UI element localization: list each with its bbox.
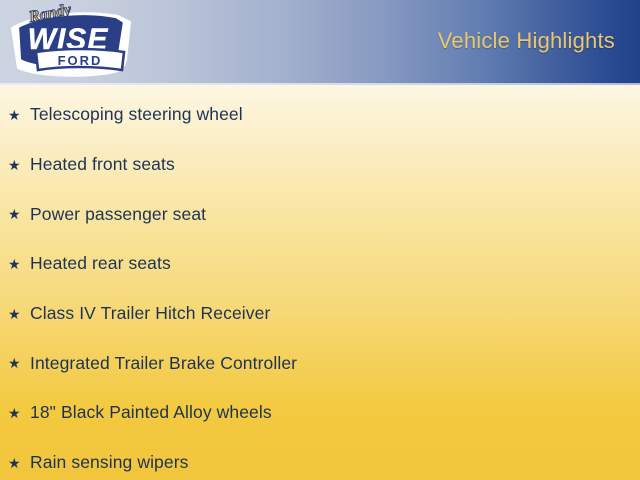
vehicle-highlights-list: ★ Telescoping steering wheel ★ Heated fr… (0, 90, 640, 480)
list-item[interactable]: ★ Heated front seats (0, 140, 640, 190)
list-item-label: Rain sensing wipers (30, 452, 189, 473)
list-item-label: Heated front seats (30, 154, 175, 175)
header-divider (0, 83, 640, 85)
list-item-label: 18" Black Painted Alloy wheels (30, 402, 272, 423)
star-bullet-icon: ★ (8, 108, 30, 122)
list-item-label: Integrated Trailer Brake Controller (30, 353, 297, 374)
list-item-label: Heated rear seats (30, 253, 171, 274)
star-bullet-icon: ★ (8, 158, 30, 172)
star-bullet-icon: ★ (8, 207, 30, 221)
star-bullet-icon: ★ (8, 406, 30, 420)
list-item[interactable]: ★ Heated rear seats (0, 239, 640, 289)
list-item[interactable]: ★ Integrated Trailer Brake Controller (0, 338, 640, 388)
list-item[interactable]: ★ Telescoping steering wheel (0, 90, 640, 140)
star-bullet-icon: ★ (8, 356, 30, 370)
list-item[interactable]: ★ Class IV Trailer Hitch Receiver (0, 289, 640, 339)
list-item-label: Telescoping steering wheel (30, 104, 243, 125)
vehicle-highlights-slide: WISE Randy FORD Vehicle Highlights ★ Tel… (0, 0, 640, 480)
list-item[interactable]: ★ Rain sensing wipers (0, 438, 640, 480)
dealer-logo[interactable]: WISE Randy FORD (6, 2, 138, 82)
list-item-label: Class IV Trailer Hitch Receiver (30, 303, 270, 324)
logo-ford-text: FORD (58, 53, 103, 68)
list-item[interactable]: ★ Power passenger seat (0, 189, 640, 239)
list-item-label: Power passenger seat (30, 204, 206, 225)
star-bullet-icon: ★ (8, 456, 30, 470)
page-title: Vehicle Highlights (438, 28, 615, 54)
header-bar: WISE Randy FORD Vehicle Highlights (0, 0, 640, 83)
star-bullet-icon: ★ (8, 257, 30, 271)
list-item[interactable]: ★ 18" Black Painted Alloy wheels (0, 388, 640, 438)
star-bullet-icon: ★ (8, 307, 30, 321)
